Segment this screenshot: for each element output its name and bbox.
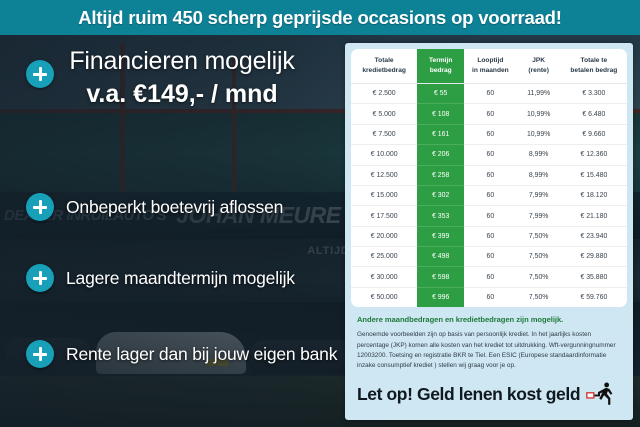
table-cell: € 25.000 bbox=[351, 247, 417, 267]
table-cell: € 996 bbox=[417, 287, 464, 307]
table-cell: € 35.880 bbox=[561, 267, 627, 287]
table-cell: 7,50% bbox=[517, 226, 561, 246]
table-row: € 50.000€ 996607,50%€ 59.760 bbox=[351, 287, 627, 307]
table-cell: 7,50% bbox=[517, 267, 561, 287]
benefit-label: Lagere maandtermijn mogelijk bbox=[66, 268, 295, 289]
table-row: € 25.000€ 498607,50%€ 29.880 bbox=[351, 247, 627, 267]
benefit-item-lagere-maandtermijn: Lagere maandtermijn mogelijk bbox=[26, 264, 346, 292]
table-cell: € 18.120 bbox=[561, 185, 627, 205]
table-cell: 10,99% bbox=[517, 104, 561, 124]
table-row: € 2.500€ 556011,99%€ 3.300 bbox=[351, 84, 627, 104]
card-subheading: Andere maandbedragen en kredietbedragen … bbox=[357, 315, 621, 324]
table-cell: € 59.760 bbox=[561, 287, 627, 307]
table-row: € 10.000€ 206608,99%€ 12.360 bbox=[351, 145, 627, 165]
table-cell: 11,99% bbox=[517, 84, 561, 104]
table-cell: 60 bbox=[464, 226, 516, 246]
plus-icon bbox=[26, 264, 54, 292]
credit-warning-row: Let op! Geld lenen kost geld bbox=[357, 382, 614, 406]
card-fineprint: Genoemde voorbeelden zijn op basis van p… bbox=[357, 330, 621, 372]
table-cell: € 3.300 bbox=[561, 84, 627, 104]
table-cell: € 17.500 bbox=[351, 206, 417, 226]
table-cell: € 30.000 bbox=[351, 267, 417, 287]
rates-table-wrapper: Totale kredietbedrag Termijn bedrag Loop… bbox=[351, 49, 627, 307]
plus-icon bbox=[26, 340, 54, 368]
table-row: € 7.500€ 1616010,99%€ 9.660 bbox=[351, 124, 627, 144]
column-header-looptijd: Looptijd in maanden bbox=[464, 49, 516, 84]
table-cell: 60 bbox=[464, 84, 516, 104]
table-row: € 12.500€ 258608,99%€ 15.480 bbox=[351, 165, 627, 185]
table-cell: 7,99% bbox=[517, 185, 561, 205]
table-cell: € 12.360 bbox=[561, 145, 627, 165]
table-row: € 5.000€ 1086010,99%€ 6.480 bbox=[351, 104, 627, 124]
table-cell: 60 bbox=[464, 247, 516, 267]
table-cell: € 108 bbox=[417, 104, 464, 124]
table-row: € 17.500€ 353607,99%€ 21.180 bbox=[351, 206, 627, 226]
table-cell: € 258 bbox=[417, 165, 464, 185]
table-cell: 60 bbox=[464, 165, 516, 185]
credit-warning-text: Let op! Geld lenen kost geld bbox=[357, 384, 580, 405]
table-cell: 7,50% bbox=[517, 287, 561, 307]
running-man-with-money-icon bbox=[586, 382, 614, 406]
table-cell: € 12.500 bbox=[351, 165, 417, 185]
table-cell: € 598 bbox=[417, 267, 464, 287]
table-cell: 60 bbox=[464, 185, 516, 205]
table-cell: € 15.000 bbox=[351, 185, 417, 205]
benefit-label: Rente lager dan bij jouw eigen bank bbox=[66, 344, 337, 365]
table-cell: 10,99% bbox=[517, 124, 561, 144]
benefit-label: Onbeperkt boetevrij aflossen bbox=[66, 197, 283, 218]
column-header-kredietbedrag: Totale kredietbedrag bbox=[351, 49, 417, 84]
table-cell: 60 bbox=[464, 206, 516, 226]
benefit-item-financieren bbox=[26, 60, 346, 88]
table-cell: 60 bbox=[464, 287, 516, 307]
table-header-row: Totale kredietbedrag Termijn bedrag Loop… bbox=[351, 49, 627, 84]
table-cell: € 2.500 bbox=[351, 84, 417, 104]
table-cell: € 302 bbox=[417, 185, 464, 205]
card-text-block: Andere maandbedragen en kredietbedragen … bbox=[345, 307, 633, 372]
table-cell: 8,99% bbox=[517, 145, 561, 165]
plus-icon bbox=[26, 60, 54, 88]
table-cell: 60 bbox=[464, 104, 516, 124]
column-header-totaal: Totale te betalen bedrag bbox=[561, 49, 627, 84]
table-cell: € 6.480 bbox=[561, 104, 627, 124]
column-header-termijnbedrag: Termijn bedrag bbox=[417, 49, 464, 84]
table-cell: € 10.000 bbox=[351, 145, 417, 165]
table-cell: € 206 bbox=[417, 145, 464, 165]
top-headline-bar: Altijd ruim 450 scherp geprijsde occasio… bbox=[0, 0, 640, 35]
table-cell: 60 bbox=[464, 124, 516, 144]
table-cell: € 161 bbox=[417, 124, 464, 144]
table-cell: € 21.180 bbox=[561, 206, 627, 226]
benefit-item-lagere-rente: Rente lager dan bij jouw eigen bank bbox=[26, 340, 346, 368]
rates-table-body: € 2.500€ 556011,99%€ 3.300€ 5.000€ 10860… bbox=[351, 84, 627, 308]
column-header-jpk: JPK (rente) bbox=[517, 49, 561, 84]
table-cell: 7,99% bbox=[517, 206, 561, 226]
top-headline-text: Altijd ruim 450 scherp geprijsde occasio… bbox=[78, 7, 562, 29]
table-cell: € 15.480 bbox=[561, 165, 627, 185]
table-cell: € 399 bbox=[417, 226, 464, 246]
table-cell: € 50.000 bbox=[351, 287, 417, 307]
promotional-banner: Altijd ruim 450 scherp geprijsde occasio… bbox=[0, 0, 640, 427]
table-cell: € 55 bbox=[417, 84, 464, 104]
table-cell: 60 bbox=[464, 145, 516, 165]
table-row: € 30.000€ 598607,50%€ 35.880 bbox=[351, 267, 627, 287]
table-cell: 8,99% bbox=[517, 165, 561, 185]
benefit-item-boetevrij-aflossen: Onbeperkt boetevrij aflossen bbox=[26, 193, 346, 221]
table-cell: € 29.880 bbox=[561, 247, 627, 267]
credit-rates-table: Totale kredietbedrag Termijn bedrag Loop… bbox=[351, 49, 627, 307]
table-cell: 7,50% bbox=[517, 247, 561, 267]
table-cell: € 353 bbox=[417, 206, 464, 226]
table-cell: € 5.000 bbox=[351, 104, 417, 124]
table-cell: € 20.000 bbox=[351, 226, 417, 246]
table-cell: € 7.500 bbox=[351, 124, 417, 144]
credit-rates-card: Totale kredietbedrag Termijn bedrag Loop… bbox=[345, 43, 633, 420]
table-row: € 15.000€ 302607,99%€ 18.120 bbox=[351, 185, 627, 205]
table-cell: 60 bbox=[464, 267, 516, 287]
table-row: € 20.000€ 399607,50%€ 23.940 bbox=[351, 226, 627, 246]
plus-icon bbox=[26, 193, 54, 221]
table-cell: € 9.660 bbox=[561, 124, 627, 144]
table-cell: € 23.940 bbox=[561, 226, 627, 246]
table-cell: € 498 bbox=[417, 247, 464, 267]
benefits-column: Financieren mogelijk v.a. €149,- / mnd O… bbox=[0, 35, 348, 427]
